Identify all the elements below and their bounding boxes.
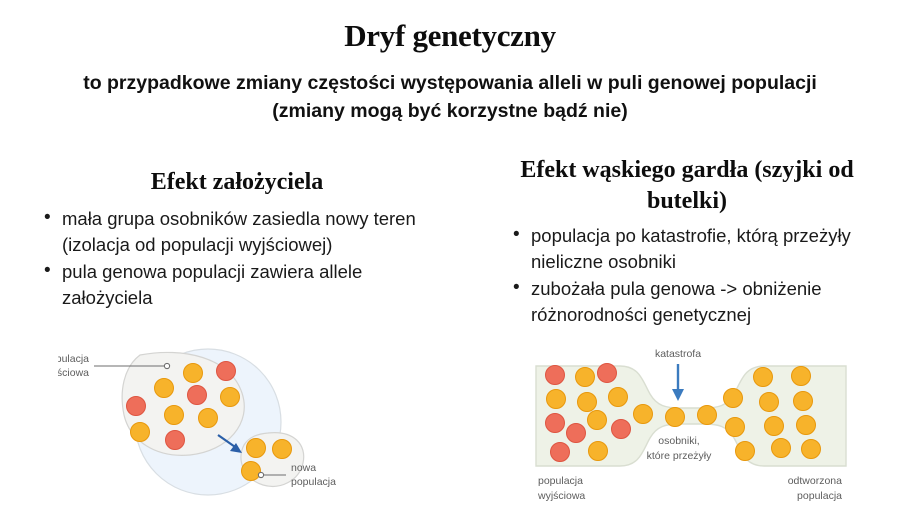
founder-effect-bullet-list: mała grupa osobników zasiedla nowy teren… — [22, 206, 452, 311]
survivors-label-line-2: które przeżyły — [647, 450, 713, 462]
founder-new-label-line-1: nowa — [291, 462, 316, 474]
list-item: pula genowa populacji zawiera allele zał… — [42, 259, 452, 311]
bottleneck-effect-figure: katastrofa osobniki, które przeżyły popu… — [528, 344, 868, 511]
catastrophe-label: katastrofa — [655, 348, 701, 360]
page-subtitle-line-1: to przypadkowe zmiany częstości występow… — [42, 69, 858, 97]
bottleneck-heading-line-1: Efekt wąskiego gardła (szyjki — [520, 157, 822, 183]
section-bottleneck-effect: Efekt wąskiego gardła (szyjki od butelki… — [487, 155, 887, 329]
bottleneck-restored-label-line-2: populacja — [797, 490, 842, 502]
page-subtitle-line-2: (zmiany mogą być korzystne bądź nie) — [42, 97, 858, 125]
bottleneck-effect-heading: Efekt wąskiego gardła (szyjki od butelki… — [487, 155, 887, 217]
section-founder-effect: Efekt założyciela mała grupa osobników z… — [22, 155, 452, 312]
bottleneck-effect-bullet-list: populacja po katastrofie, którą przeżyły… — [487, 223, 887, 328]
bottleneck-restored-label-line-1: odtworzona — [788, 475, 842, 487]
page-title: Dryf genetyczny — [0, 18, 900, 54]
founder-effect-figure: populacja wyjściowa nowa populacja — [58, 345, 388, 510]
list-item: mała grupa osobników zasiedla nowy teren… — [42, 206, 452, 258]
founder-source-label-line-2: wyjściowa — [58, 367, 89, 379]
survivors-label-line-1: osobniki, — [658, 435, 699, 447]
bottleneck-source-label-line-1: populacja — [538, 475, 583, 487]
list-item: zubożała pula genowa -> obniżenie różnor… — [511, 276, 887, 328]
founder-new-label-line-2: populacja — [291, 476, 336, 488]
page-subtitle: to przypadkowe zmiany częstości występow… — [42, 69, 858, 125]
bottleneck-neck-dots — [634, 405, 717, 427]
list-item: populacja po katastrofie, którą przeżyły… — [511, 223, 887, 275]
founder-source-label-line-1: populacja — [58, 353, 89, 365]
bottleneck-source-label-line-2: wyjściowa — [537, 490, 585, 502]
catastrophe-arrow-icon — [672, 364, 684, 401]
founder-effect-heading: Efekt założyciela — [22, 155, 452, 198]
